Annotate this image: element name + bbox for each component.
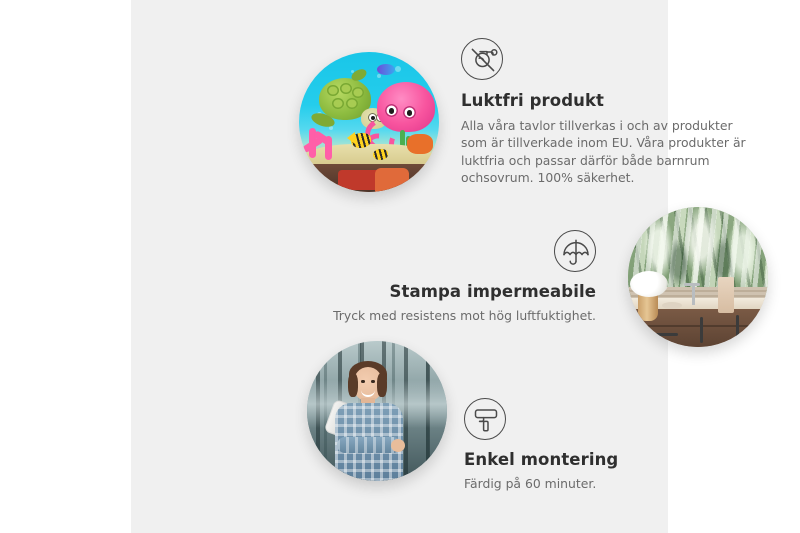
- soap-dish: [662, 302, 682, 309]
- faucet: [692, 283, 695, 305]
- feature-title: Stampa impermeabile: [331, 282, 596, 303]
- feature-luktfri-produkt: Luktfri produkt Alla våra tavlor tillver…: [461, 38, 761, 187]
- seabed-strip: [299, 164, 439, 192]
- feature-enkel-montering: Enkel montering Färdig på 60 minuter.: [464, 398, 734, 492]
- feature-body: Färdig på 60 minuter.: [464, 475, 734, 493]
- underwater-illustration: [299, 52, 439, 192]
- no-odour-perfume-bottle-icon: [461, 38, 503, 80]
- umbrella-icon: [554, 230, 596, 272]
- photo-underwater-kids-scene: [299, 52, 439, 192]
- paint-roller-icon: [464, 398, 506, 440]
- content-panel: Luktfri produkt Alla våra tavlor tillver…: [131, 0, 668, 533]
- blue-fish: [377, 64, 395, 75]
- photo-woman-with-paint-roller-forest: [307, 341, 447, 481]
- product-feature-infographic: Luktfri produkt Alla våra tavlor tillver…: [0, 0, 800, 533]
- towel: [718, 277, 734, 313]
- feature-stampa-impermeabile: Stampa impermeabile Tryck med resistens …: [331, 230, 596, 324]
- feature-title: Luktfri produkt: [461, 91, 761, 112]
- hand: [391, 439, 405, 452]
- starfish: [407, 134, 433, 154]
- photo-bathroom-leaf-wallpaper: [628, 207, 768, 347]
- feature-body: Alla våra tavlor tillverkas i och av pro…: [461, 117, 761, 187]
- feature-body: Tryck med resistens mot hög luftfuktighe…: [331, 307, 596, 325]
- feature-title: Enkel montering: [464, 450, 734, 471]
